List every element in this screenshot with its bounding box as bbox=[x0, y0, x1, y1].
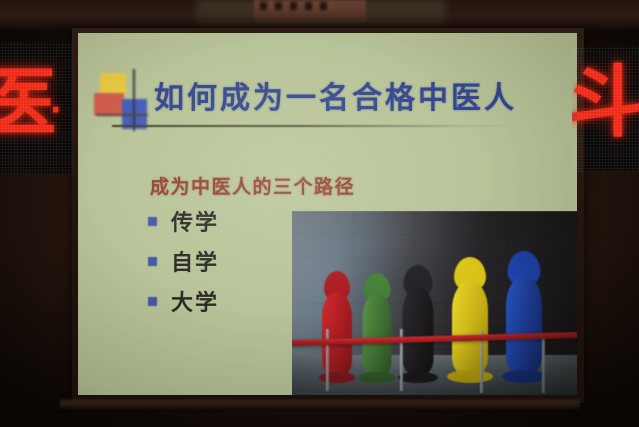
slide-photograph bbox=[292, 211, 577, 395]
bullet-label: 自学 bbox=[171, 245, 219, 277]
motif-horizontal-line bbox=[96, 114, 148, 116]
title-decoration-motif bbox=[92, 69, 154, 131]
bullet-square-icon bbox=[148, 257, 157, 266]
motif-yellow-square bbox=[100, 73, 126, 95]
led-glyph-right: 斗 bbox=[572, 64, 639, 142]
motif-red-square bbox=[94, 93, 124, 115]
presentation-slide: 如何成为一名合格中医人 成为中医人的三个路径 传学 自学 大学 bbox=[78, 33, 577, 395]
photo-soften-overlay bbox=[292, 211, 577, 395]
bullet-square-icon bbox=[148, 297, 157, 306]
ceiling-fixture bbox=[254, 0, 366, 22]
bullet-label: 传学 bbox=[171, 205, 219, 237]
bullet-square-icon bbox=[148, 217, 157, 226]
led-glyph-left: 医 bbox=[0, 66, 56, 140]
slide-title: 如何成为一名合格中医人 bbox=[154, 73, 517, 117]
slide-subtitle: 成为中医人的三个路径 bbox=[150, 172, 355, 199]
led-marquee-left: 医 · bbox=[0, 42, 74, 174]
auditorium-scene: 医 · 斗 如何成为一名合格中医人 成为中医人的三个路径 传学 自学 bbox=[0, 0, 639, 427]
motif-vertical-line bbox=[133, 69, 135, 131]
title-underline-rule bbox=[112, 125, 522, 127]
led-separator-left: · bbox=[50, 96, 61, 126]
screen-bottom-rail bbox=[60, 400, 580, 409]
bullet-label: 大学 bbox=[171, 285, 219, 317]
